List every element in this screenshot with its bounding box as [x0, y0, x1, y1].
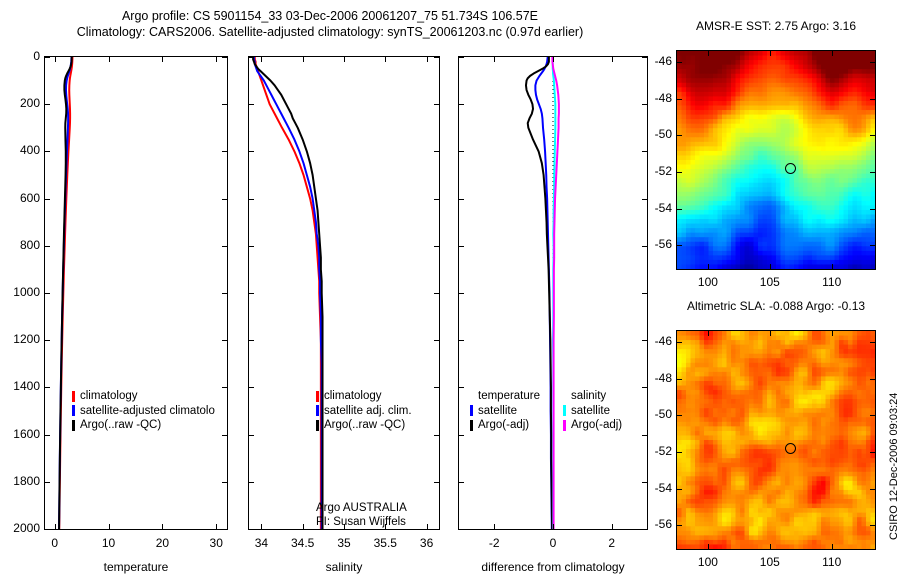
map-cell [844, 445, 849, 450]
map-cell [790, 517, 795, 522]
map-cell [731, 363, 736, 368]
map-cell [718, 454, 723, 459]
map-cell [871, 544, 876, 549]
map-cell [848, 178, 853, 183]
map-cell [776, 358, 781, 363]
map-cell [776, 174, 781, 179]
map-cell [740, 345, 745, 350]
map-cell [812, 504, 817, 509]
map-cell [722, 426, 727, 431]
axis-tick [45, 387, 50, 388]
map-cell [682, 246, 687, 251]
map-cell [848, 96, 853, 101]
difference-panel[interactable] [458, 56, 648, 530]
map-cell [772, 495, 777, 500]
map-cell [695, 426, 700, 431]
map-cell [781, 454, 786, 459]
map-cell [785, 106, 790, 111]
map-cell [754, 65, 759, 70]
map-cell [808, 495, 813, 500]
map-cell [677, 517, 682, 522]
sst-map-title: AMSR-E SST: 2.75 Argo: 3.16 [676, 19, 876, 33]
map-cell [691, 137, 696, 142]
map-cell [817, 445, 822, 450]
map-cell [785, 69, 790, 74]
map-cell [812, 358, 817, 363]
map-cell [857, 51, 862, 56]
axis-tick [870, 99, 875, 100]
map-cell [709, 264, 714, 269]
map-cell [704, 413, 709, 418]
difference-curves [459, 57, 647, 529]
map-cell [790, 495, 795, 500]
map-cell [736, 535, 741, 540]
map-cell [790, 544, 795, 549]
legend-label: climatology [324, 389, 382, 404]
map-cell [785, 228, 790, 233]
temperature-panel[interactable] [44, 56, 228, 530]
map-cell [839, 345, 844, 350]
map-cell [695, 160, 700, 165]
map-cell [857, 264, 862, 269]
map-cell [704, 399, 709, 404]
map-cell [731, 495, 736, 500]
map-cell [700, 146, 705, 151]
map-cell [844, 504, 849, 509]
map-cell [704, 251, 709, 256]
map-cell [862, 367, 867, 372]
credit-line: Argo AUSTRALIA [316, 501, 407, 515]
map-cell [758, 260, 763, 265]
axis-tick [434, 104, 439, 105]
map-cell [740, 513, 745, 518]
map-cell [700, 137, 705, 142]
map-cell [844, 435, 849, 440]
map-cell [758, 517, 763, 522]
map-cell [803, 413, 808, 418]
map-cell [709, 408, 714, 413]
map-cell [736, 540, 741, 545]
map-cell [740, 192, 745, 197]
map-cell [740, 358, 745, 363]
map-cell [821, 408, 826, 413]
map-cell [853, 205, 858, 210]
map-cell [848, 201, 853, 206]
map-cell [700, 336, 705, 341]
map-cell [812, 119, 817, 124]
map-cell [704, 490, 709, 495]
map-cell [826, 467, 831, 472]
map-cell [731, 431, 736, 436]
map-cell [821, 513, 826, 518]
map-cell [772, 485, 777, 490]
map-cell [817, 178, 822, 183]
map-cell [821, 476, 826, 481]
map-cell [835, 74, 840, 79]
map-cell [682, 336, 687, 341]
map-cell [821, 142, 826, 147]
map-cell [776, 386, 781, 391]
map-cell [763, 472, 768, 477]
map-cell [709, 463, 714, 468]
map-cell [749, 124, 754, 129]
map-cell [857, 376, 862, 381]
map-cell [826, 264, 831, 269]
map-cell [682, 340, 687, 345]
map-cell [857, 422, 862, 427]
map-cell [808, 56, 813, 61]
map-cell [871, 178, 876, 183]
map-cell [677, 87, 682, 92]
map-cell [830, 205, 835, 210]
map-cell [835, 540, 840, 545]
map-cell [763, 386, 768, 391]
map-cell [745, 440, 750, 445]
map-cell [844, 490, 849, 495]
map-cell [727, 228, 732, 233]
map-cell [740, 481, 745, 486]
map-cell [853, 399, 858, 404]
map-cell [704, 151, 709, 156]
map-cell [740, 467, 745, 472]
map-cell [740, 417, 745, 422]
map-cell [817, 146, 822, 151]
axis-tick [677, 379, 682, 380]
map-cell [713, 174, 718, 179]
map-cell [754, 74, 759, 79]
map-cell [817, 408, 822, 413]
map-cell [731, 215, 736, 220]
map-cell [781, 201, 786, 206]
map-cell [686, 404, 691, 409]
map-cell [835, 517, 840, 522]
sst-map[interactable] [676, 50, 876, 270]
map-cell [686, 133, 691, 138]
temperature-axis-title: temperature [76, 560, 196, 574]
map-cell [808, 540, 813, 545]
axis-tick [303, 57, 304, 62]
map-cell [686, 187, 691, 192]
map-cell [776, 178, 781, 183]
map-cell [722, 205, 727, 210]
map-cell [781, 242, 786, 247]
map-cell [718, 508, 723, 513]
map-cell [776, 160, 781, 165]
map-cell [772, 440, 777, 445]
map-cell [767, 201, 772, 206]
map-cell [709, 417, 714, 422]
axis-tick [459, 104, 464, 105]
map-cell [839, 340, 844, 345]
map-cell [727, 508, 732, 513]
legend-color-swatch [316, 420, 319, 431]
map-cell [686, 467, 691, 472]
map-cell [835, 219, 840, 224]
map-cell [857, 237, 862, 242]
map-cell [821, 101, 826, 106]
map-cell [700, 395, 705, 400]
map-cell [758, 74, 763, 79]
map-cell [700, 183, 705, 188]
map-cell [830, 413, 835, 418]
map-cell [686, 413, 691, 418]
map-cell [826, 255, 831, 260]
map-cell [731, 517, 736, 522]
axis-tick [870, 525, 875, 526]
map-cell [758, 115, 763, 120]
map-cell [758, 124, 763, 129]
map-cell [749, 458, 754, 463]
map-cell [731, 499, 736, 504]
map-cell [866, 426, 871, 431]
map-cell [691, 255, 696, 260]
map-cell [677, 431, 682, 436]
map-cell [790, 237, 795, 242]
map-cell [812, 508, 817, 513]
map-cell [794, 128, 799, 133]
map-cell [704, 92, 709, 97]
map-cell [871, 160, 876, 165]
map-cell [853, 133, 858, 138]
map-cell [736, 526, 741, 531]
map-cell [781, 115, 786, 120]
map-cell [799, 155, 804, 160]
map-cell [740, 183, 745, 188]
map-cell [862, 83, 867, 88]
map-cell [682, 83, 687, 88]
map-cell [749, 151, 754, 156]
map-cell [812, 349, 817, 354]
map-cell [857, 531, 862, 536]
map-cell [857, 544, 862, 549]
map-cell [736, 431, 741, 436]
map-cell [830, 376, 835, 381]
axis-tick [459, 340, 464, 341]
map-cell [835, 508, 840, 513]
map-cell [799, 531, 804, 536]
map-cell [844, 422, 849, 427]
map-cell [844, 354, 849, 359]
map-cell [722, 408, 727, 413]
map-cell [848, 142, 853, 147]
sla-map[interactable] [676, 330, 876, 550]
map-cell [749, 535, 754, 540]
map-cell [731, 490, 736, 495]
map-cell [821, 264, 826, 269]
map-cell [848, 404, 853, 409]
map-cell [844, 376, 849, 381]
map-cell [826, 215, 831, 220]
map-cell [700, 435, 705, 440]
map-cell [727, 513, 732, 518]
map-cell [848, 228, 853, 233]
map-cell [677, 490, 682, 495]
map-cell [749, 196, 754, 201]
map-cell [745, 60, 750, 65]
map-cell [758, 178, 763, 183]
map-cell [763, 463, 768, 468]
map-cell [695, 106, 700, 111]
map-cell [790, 96, 795, 101]
map-cell [695, 165, 700, 170]
map-cell [790, 255, 795, 260]
map-cell [826, 260, 831, 265]
map-cell [817, 490, 822, 495]
map-cell [713, 178, 718, 183]
map-cell [776, 115, 781, 120]
map-cell [718, 92, 723, 97]
map-cell [794, 56, 799, 61]
map-cell [709, 174, 714, 179]
map-cell [713, 508, 718, 513]
map-cell [767, 522, 772, 527]
map-cell [763, 56, 768, 61]
map-cell [790, 155, 795, 160]
map-cell [857, 246, 862, 251]
map-cell [790, 485, 795, 490]
map-cell [713, 201, 718, 206]
map-cell [767, 504, 772, 509]
map-cell [677, 426, 682, 431]
map-cell [862, 431, 867, 436]
map-cell [691, 87, 696, 92]
map-cell [731, 187, 736, 192]
map-cell [772, 260, 777, 265]
map-cell [686, 345, 691, 350]
map-cell [722, 115, 727, 120]
map-cell [839, 531, 844, 536]
map-cell [808, 87, 813, 92]
axis-tick [459, 435, 464, 436]
map-cell [749, 504, 754, 509]
map-cell [718, 246, 723, 251]
map-cell [776, 467, 781, 472]
map-cell [830, 513, 835, 518]
map-cell [776, 408, 781, 413]
map-cell [722, 51, 727, 56]
map-cell [731, 242, 736, 247]
map-cell [794, 260, 799, 265]
map-cell [830, 192, 835, 197]
map-cell [682, 445, 687, 450]
map-cell [871, 354, 876, 359]
map-cell [731, 264, 736, 269]
map-cell [704, 133, 709, 138]
map-cell [767, 106, 772, 111]
map-cell [844, 178, 849, 183]
map-cell [691, 513, 696, 518]
map-cell [745, 526, 750, 531]
map-cell [709, 354, 714, 359]
map-cell [767, 417, 772, 422]
map-cell [862, 260, 867, 265]
map-cell [713, 458, 718, 463]
map-cell [731, 196, 736, 201]
salinity-panel[interactable] [248, 56, 440, 530]
map-cell [776, 242, 781, 247]
map-cell [682, 155, 687, 160]
map-cell [821, 106, 826, 111]
map-cell [763, 422, 768, 427]
map-cell [857, 413, 862, 418]
map-cell [794, 431, 799, 436]
map-cell [812, 445, 817, 450]
map-cell [677, 228, 682, 233]
map-cell [695, 242, 700, 247]
map-cell [857, 331, 862, 336]
map-cell [817, 413, 822, 418]
map-cell [700, 340, 705, 345]
map-cell [722, 531, 727, 536]
map-cell [691, 124, 696, 129]
map-cell [722, 504, 727, 509]
map-cell [862, 517, 867, 522]
map-cell [745, 83, 750, 88]
map-cell [848, 358, 853, 363]
map-cell [686, 395, 691, 400]
map-cell [808, 336, 813, 341]
map-cell [713, 78, 718, 83]
map-cell [695, 435, 700, 440]
map-cell [776, 74, 781, 79]
map-cell [862, 242, 867, 247]
map-cell [826, 124, 831, 129]
map-cell [866, 201, 871, 206]
map-cell [830, 106, 835, 111]
map-cell [803, 65, 808, 70]
map-cell [785, 504, 790, 509]
map-cell [727, 522, 732, 527]
map-cell [718, 386, 723, 391]
map-cell [826, 101, 831, 106]
map-cell [839, 376, 844, 381]
map-cell [749, 544, 754, 549]
map-cell [790, 210, 795, 215]
map-cell [709, 504, 714, 509]
map-cell [839, 151, 844, 156]
map-cell [808, 187, 813, 192]
map-cell [686, 74, 691, 79]
map-cell [713, 390, 718, 395]
map-cell [844, 264, 849, 269]
map-cell [830, 65, 835, 70]
map-cell [794, 376, 799, 381]
map-cell [866, 246, 871, 251]
map-cell [835, 210, 840, 215]
map-cell [871, 87, 876, 92]
map-cell [731, 422, 736, 427]
map-cell [713, 426, 718, 431]
map-cell [835, 476, 840, 481]
map-cell [821, 463, 826, 468]
map-cell [740, 169, 745, 174]
map-cell [799, 110, 804, 115]
map-cell [848, 363, 853, 368]
map-cell [731, 74, 736, 79]
map-cell [839, 165, 844, 170]
map-cell [848, 454, 853, 459]
map-cell [826, 340, 831, 345]
map-cell [758, 472, 763, 477]
map-cell [844, 363, 849, 368]
map-cell [740, 83, 745, 88]
map-cell [812, 260, 817, 265]
map-cell [781, 476, 786, 481]
map-cell [713, 522, 718, 527]
map-cell [799, 467, 804, 472]
map-cell [853, 449, 858, 454]
map-cell [763, 228, 768, 233]
